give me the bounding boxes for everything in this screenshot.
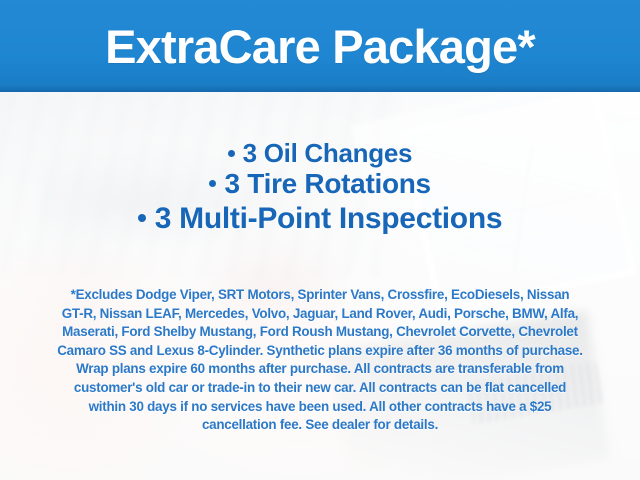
bullet-dot-icon (209, 180, 216, 187)
benefit-label: 3 Multi-Point Inspections (155, 202, 503, 235)
benefit-item-tire-rotations: 3 Tire Rotations (0, 168, 640, 201)
header-banner: ExtraCare Package* (0, 0, 640, 92)
disclaimer-line: GT-R, Nissan LEAF, Mercedes, Volvo, Jagu… (24, 305, 616, 324)
extracare-package-ad: ExtraCare Package* 3 Oil Changes 3 Tire … (0, 0, 640, 480)
bullet-dot-icon (138, 214, 146, 222)
disclaimer-line: Wrap plans expire 60 months after purcha… (24, 360, 616, 379)
benefit-item-oil-changes: 3 Oil Changes (0, 138, 640, 168)
bullet-dot-icon (228, 150, 235, 157)
disclaimer-line: *Excludes Dodge Viper, SRT Motors, Sprin… (24, 286, 616, 305)
benefit-item-multi-point-inspections: 3 Multi-Point Inspections (0, 201, 640, 236)
disclaimer-text: *Excludes Dodge Viper, SRT Motors, Sprin… (24, 286, 616, 435)
disclaimer-line: Maserati, Ford Shelby Mustang, Ford Rous… (24, 323, 616, 342)
benefits-list: 3 Oil Changes 3 Tire Rotations 3 Multi-P… (0, 138, 640, 236)
disclaimer-line: customer's old car or trade-in to their … (24, 379, 616, 398)
page-title: ExtraCare Package* (105, 23, 535, 70)
benefit-label: 3 Oil Changes (243, 138, 412, 168)
benefit-label: 3 Tire Rotations (225, 168, 431, 199)
disclaimer-line: Camaro SS and Lexus 8-Cylinder. Syntheti… (24, 342, 616, 361)
disclaimer-line: cancellation fee. See dealer for details… (24, 416, 616, 435)
disclaimer-line: within 30 days if no services have been … (24, 398, 616, 417)
